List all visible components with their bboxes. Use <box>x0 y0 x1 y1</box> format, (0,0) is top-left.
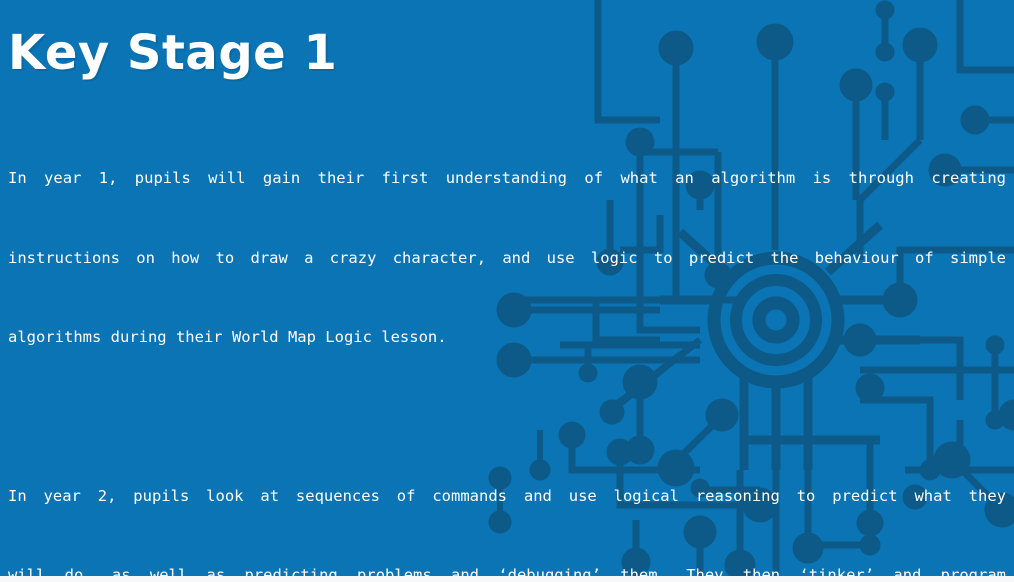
banner-page: Key Stage 1 In year 1, pupils will gain … <box>0 0 1014 582</box>
paragraph-line: In year 2, pupils look at sequences of c… <box>8 483 1006 510</box>
paragraph-year-1: In year 1, pupils will gain their first … <box>8 112 1006 404</box>
paragraph-line: In year 1, pupils will gain their first … <box>8 165 1006 192</box>
blue-banner: Key Stage 1 In year 1, pupils will gain … <box>0 0 1014 576</box>
paragraph-line: will do, as well as predicting problems … <box>8 562 1006 576</box>
paragraph-line: algorithms during their World Map Logic … <box>8 324 1006 351</box>
paragraph-year-2: In year 2, pupils look at sequences of c… <box>8 430 1006 577</box>
page-title: Key Stage 1 <box>8 24 337 82</box>
paragraph-line: instructions on how to draw a crazy char… <box>8 245 1006 272</box>
body-copy: In year 1, pupils will gain their first … <box>8 112 1006 576</box>
page-bottom-strip <box>0 576 1014 582</box>
